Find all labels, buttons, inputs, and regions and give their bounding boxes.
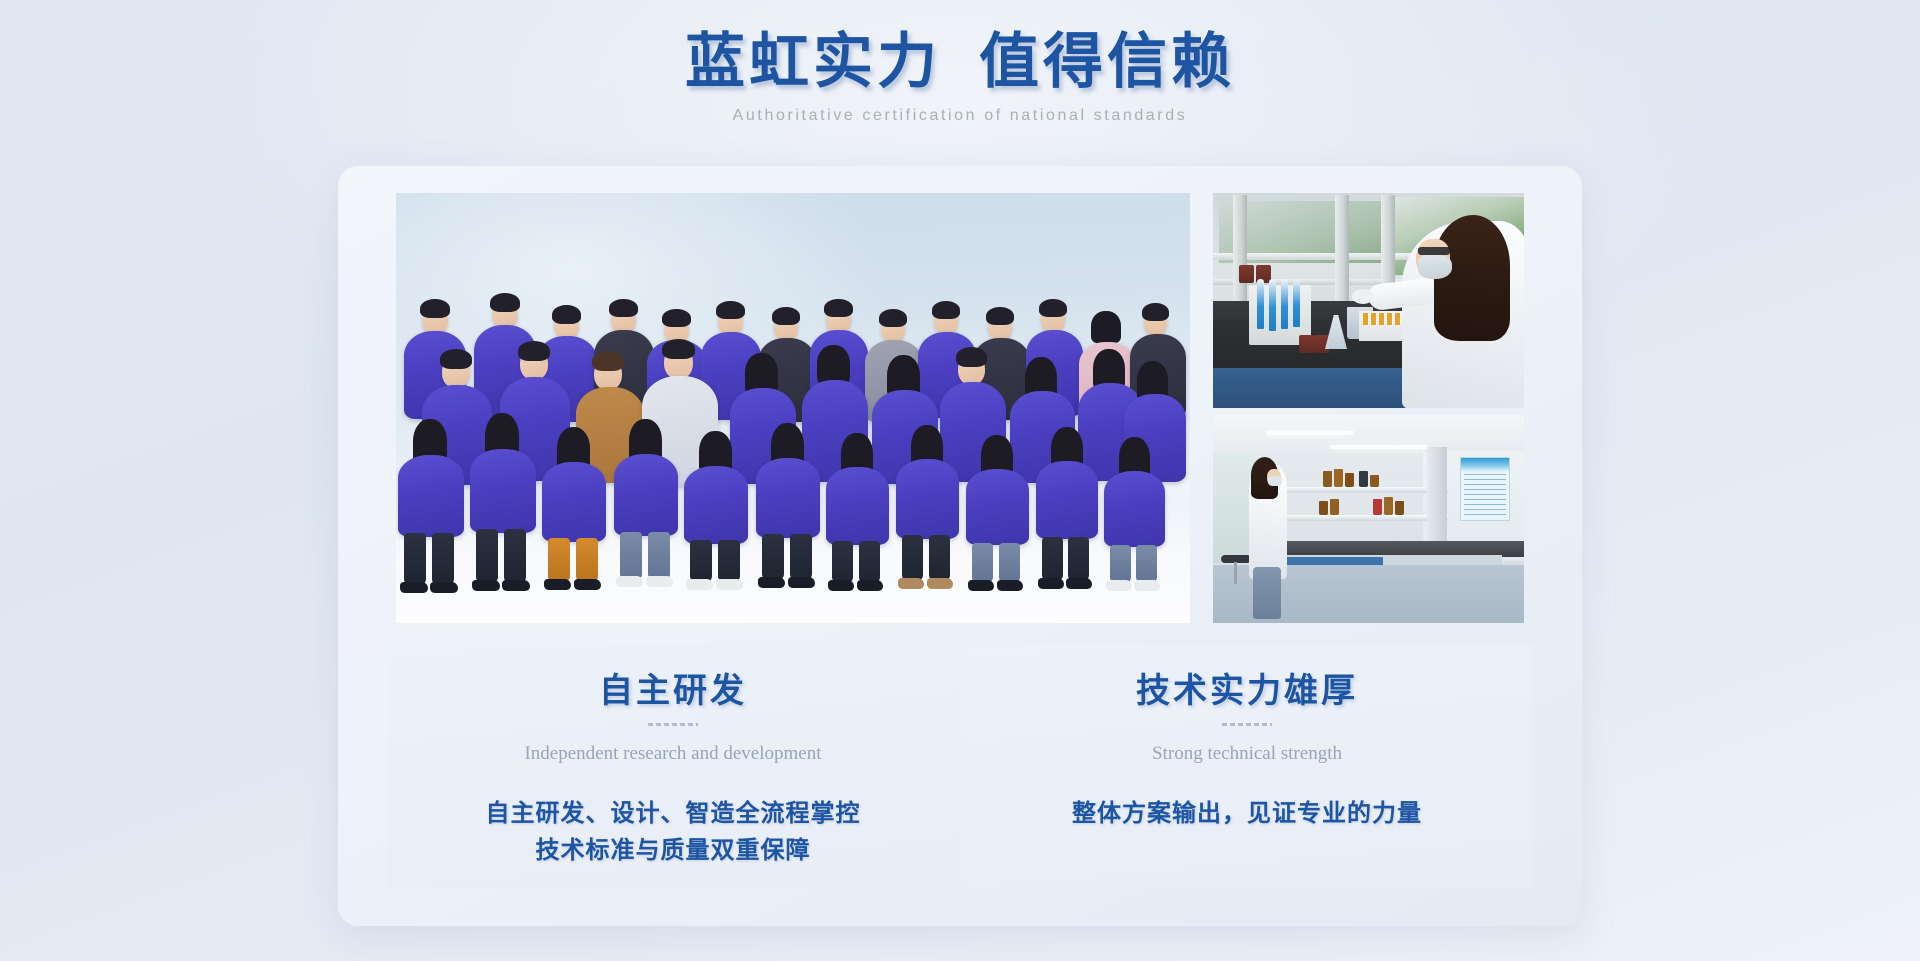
card-description: 自主研发、设计、智造全流程掌控 技术标准与质量双重保障 — [486, 796, 861, 870]
shelf-bottle-4 — [1359, 471, 1368, 487]
content-panel: 自主研发 Independent research and developmen… — [338, 166, 1582, 926]
page-title: 蓝虹实力 值得信赖 — [0, 26, 1920, 98]
media-gallery — [396, 193, 1524, 623]
shelf-bottle-2 — [1334, 469, 1343, 487]
safety-notice-poster — [1460, 457, 1510, 521]
laboratory-room-photo[interactable] — [1213, 415, 1524, 623]
ceiling-light-2 — [1331, 445, 1427, 449]
ceiling-light-1 — [1267, 431, 1353, 435]
shelf-bottle-1 — [1323, 471, 1332, 487]
lab-technician-gloved-hand — [1352, 289, 1374, 304]
page-subtitle: Authoritative certification of national … — [0, 106, 1920, 126]
shelf-bottle-8 — [1373, 499, 1382, 515]
card-dash-divider — [1222, 723, 1272, 726]
lab-technician-hair — [1434, 215, 1510, 341]
reagent-shelf-lower — [1265, 515, 1448, 521]
card-english-subtitle: Independent research and development — [524, 742, 821, 766]
reagent-shelf-upper — [1265, 487, 1448, 493]
poster-text-lines — [1464, 474, 1506, 516]
shelf-bottle-10 — [1395, 501, 1404, 515]
shelf-bottle-7 — [1330, 499, 1339, 515]
lab-stool-leg — [1234, 562, 1237, 584]
sample-tubes — [1363, 313, 1407, 325]
shelf-bottle-3 — [1345, 473, 1354, 487]
pipette-1 — [1257, 279, 1264, 329]
company-team-group-photo[interactable] — [396, 193, 1190, 623]
reagent-bottle-3 — [1299, 335, 1314, 353]
lab-technician-mask — [1418, 255, 1452, 279]
card-english-subtitle: Strong technical strength — [1152, 742, 1342, 766]
card-title: 技术实力雄厚 — [1136, 670, 1358, 714]
shelf-bottle-9 — [1384, 497, 1393, 515]
section-header: 蓝虹实力 值得信赖 Authoritative certification of… — [0, 26, 1920, 126]
lab-technician-pipetting-photo[interactable] — [1213, 193, 1524, 408]
lab-researcher-jeans — [1253, 567, 1281, 619]
lab-technician-glasses — [1418, 247, 1450, 255]
shelf-bottle-5 — [1370, 475, 1379, 487]
pipette-3 — [1281, 279, 1288, 329]
lab-researcher-mask — [1268, 476, 1282, 486]
pipette-4 — [1293, 279, 1300, 327]
reagent-bottle-1 — [1239, 265, 1254, 283]
card-dash-divider — [648, 723, 698, 726]
feature-card-technical-strength[interactable]: 技术实力雄厚 Strong technical strength 整体方案输出，… — [962, 645, 1532, 888]
lab-cabinet-blue — [1213, 368, 1423, 408]
card-title: 自主研发 — [599, 670, 747, 714]
group-photo-people — [396, 193, 1190, 623]
shelf-bottle-6 — [1319, 501, 1328, 515]
feature-card-independent-rd[interactable]: 自主研发 Independent research and developmen… — [388, 645, 958, 888]
card-description: 整体方案输出，见证专业的力量 — [1072, 796, 1422, 833]
pipette-2 — [1269, 279, 1276, 331]
feature-cards: 自主研发 Independent research and developmen… — [388, 645, 1532, 888]
